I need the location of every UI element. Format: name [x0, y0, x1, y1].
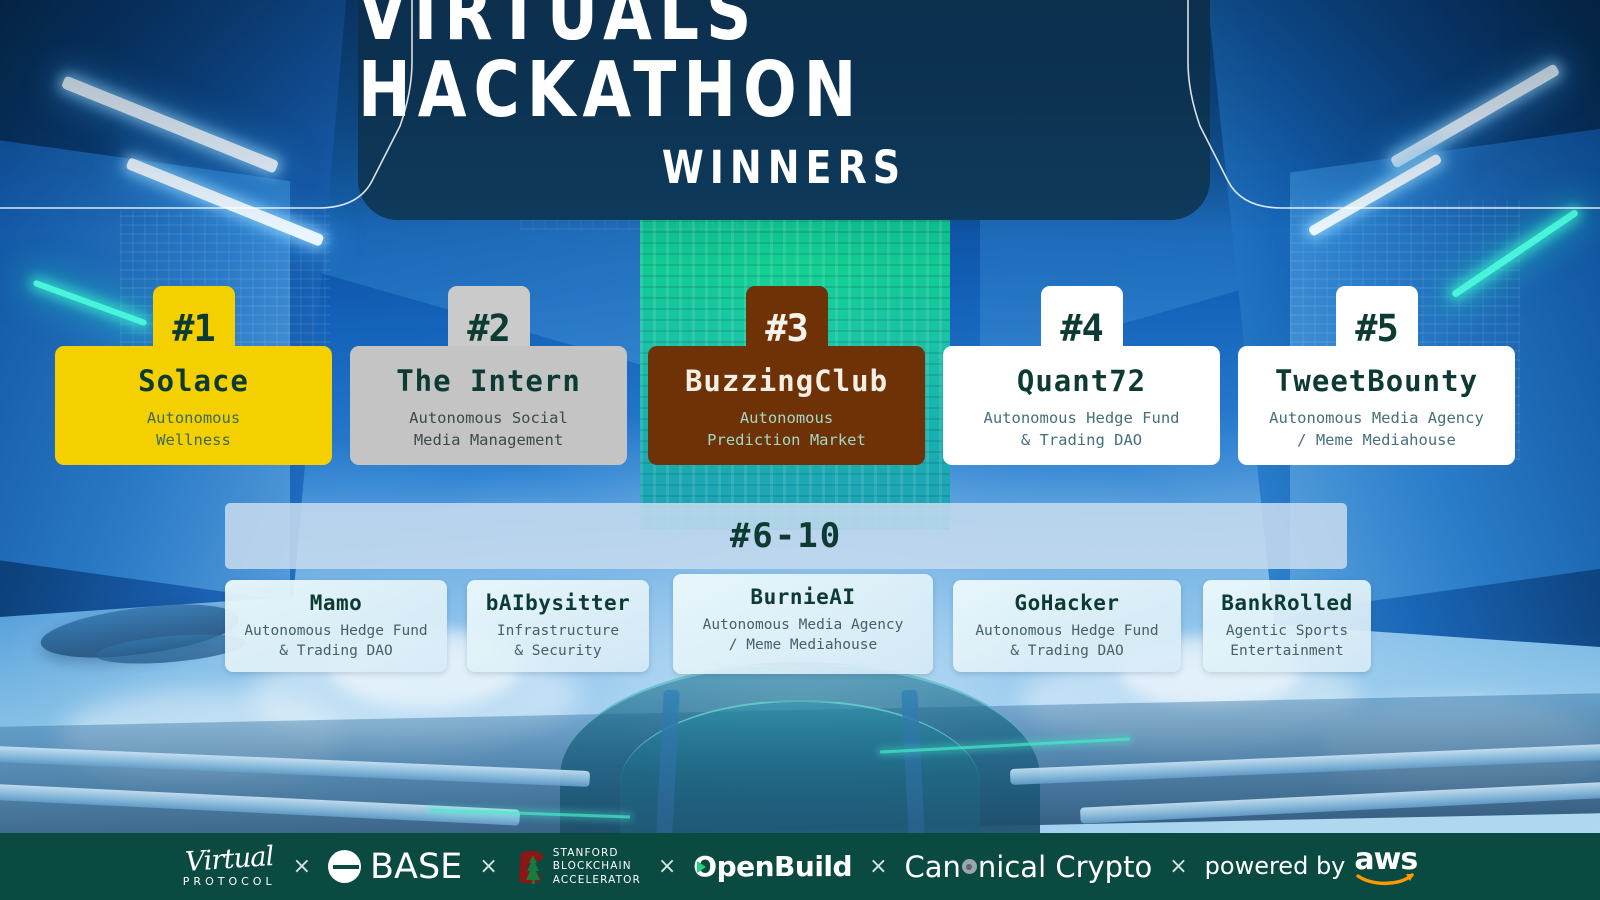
winner-desc: Autonomous Media Agency / Meme Mediahous… — [1248, 407, 1505, 451]
runner-up-name: Mamo — [233, 591, 439, 615]
runner-up-desc-line2: & Trading DAO — [233, 641, 439, 661]
stanford-line-3: ACCELERATOR — [553, 874, 641, 886]
runner-up-name: BurnieAI — [681, 585, 925, 609]
runner-up-card-1[interactable]: Mamo Autonomous Hedge Fund & Trading DAO — [225, 580, 447, 672]
winner-desc-line2: Wellness — [65, 429, 322, 451]
stanford-tree-icon — [515, 849, 547, 885]
winner-name: Solace — [65, 366, 322, 398]
sponsor-bar: Virtual PROTOCOL × BASE × STANFORD BLOCK… — [0, 833, 1600, 900]
openbuild-o-letter: O — [693, 850, 716, 883]
runner-up-desc-line1: Infrastructure — [475, 621, 641, 641]
page-subtitle: WINNERS — [662, 141, 906, 194]
separator-x-icon: × — [462, 854, 514, 879]
virtuals-wordmark: Virtual — [184, 843, 274, 876]
podium-winners: #1 Solace Autonomous Wellness #2 The Int… — [0, 286, 1600, 491]
runner-up-desc-line2: & Trading DAO — [961, 641, 1173, 661]
runner-up-name: bAIbysitter — [475, 591, 641, 615]
winner-desc: Autonomous Social Media Management — [360, 407, 617, 451]
rank-label: #2 — [467, 307, 510, 350]
rank-label: #1 — [172, 307, 215, 350]
winner-desc-line1: Autonomous Media Agency — [1248, 407, 1505, 429]
winner-desc-line1: Autonomous Hedge Fund — [953, 407, 1210, 429]
openbuild-rest: penBuild — [717, 850, 852, 883]
runner-up-desc-line2: Entertainment — [1211, 641, 1363, 661]
runner-up-desc: Autonomous Media Agency / Meme Mediahous… — [681, 615, 925, 656]
runner-up-card-4[interactable]: GoHacker Autonomous Hedge Fund & Trading… — [953, 580, 1181, 672]
base-logo-icon — [328, 850, 361, 883]
aws-logo: aws — [1354, 847, 1417, 886]
runner-up-desc: Infrastructure & Security — [475, 621, 641, 662]
winner-body-3: BuzzingClub Autonomous Prediction Market — [648, 346, 925, 465]
winner-desc: Autonomous Wellness — [65, 407, 322, 451]
winner-desc-line1: Autonomous Social — [360, 407, 617, 429]
sponsor-canonical-crypto[interactable]: Cannical Crypto — [905, 850, 1153, 884]
page-title: VIRTUALS HACKATHON — [358, 0, 1210, 128]
winner-desc-line1: Autonomous — [658, 407, 915, 429]
winner-desc-line2: Prediction Market — [658, 429, 915, 451]
winner-name: Quant72 — [953, 366, 1210, 398]
winner-desc: Autonomous Prediction Market — [658, 407, 915, 451]
runner-up-desc: Autonomous Hedge Fund & Trading DAO — [961, 621, 1173, 662]
separator-x-icon: × — [641, 854, 693, 879]
base-wordmark: BASE — [370, 847, 462, 887]
poster-canvas: VIRTUALS HACKATHON WINNERS #1 Solace Aut… — [0, 0, 1600, 900]
runners-up-banner: #6-10 — [225, 503, 1347, 569]
runner-up-desc-line2: / Meme Mediahouse — [681, 635, 925, 655]
winner-body-2: The Intern Autonomous Social Media Manag… — [350, 346, 627, 465]
openbuild-wordmark: O penBuild — [693, 850, 852, 883]
winner-name: TweetBounty — [1248, 366, 1505, 398]
sponsor-virtuals-protocol[interactable]: Virtual PROTOCOL — [183, 846, 276, 887]
rank-label: #4 — [1060, 307, 1103, 350]
winner-desc-line2: & Trading DAO — [953, 429, 1210, 451]
stanford-line-2: BLOCKCHAIN — [553, 860, 641, 872]
stanford-line-1: STANFORD — [553, 847, 641, 859]
aws-smile-icon — [1356, 872, 1416, 886]
aws-powered-by-label: powered by — [1205, 852, 1346, 880]
canonical-suffix: nical Crypto — [978, 850, 1152, 884]
header-panel: VIRTUALS HACKATHON WINNERS — [358, 0, 1210, 220]
winner-body-5: TweetBounty Autonomous Media Agency / Me… — [1238, 346, 1515, 465]
winner-name: The Intern — [360, 366, 617, 398]
sponsor-base[interactable]: BASE — [328, 847, 462, 887]
canonical-prefix: Can — [905, 850, 961, 884]
sponsor-openbuild[interactable]: O penBuild — [693, 850, 852, 883]
winner-desc-line2: Media Management — [360, 429, 617, 451]
virtuals-subtitle: PROTOCOL — [183, 876, 276, 887]
separator-x-icon: × — [276, 854, 328, 879]
separator-x-icon: × — [852, 854, 904, 879]
runners-up-label: #6-10 — [730, 516, 842, 556]
rank-label: #5 — [1355, 307, 1398, 350]
aws-wordmark: aws — [1354, 847, 1417, 873]
runner-up-desc-line1: Autonomous Hedge Fund — [233, 621, 439, 641]
winner-desc: Autonomous Hedge Fund & Trading DAO — [953, 407, 1210, 451]
runner-up-card-3[interactable]: BurnieAI Autonomous Media Agency / Meme … — [673, 574, 933, 674]
openbuild-arrow-icon — [697, 861, 706, 873]
stanford-text: STANFORD BLOCKCHAIN ACCELERATOR — [553, 847, 641, 886]
winner-desc-line2: / Meme Mediahouse — [1248, 429, 1505, 451]
winner-body-4: Quant72 Autonomous Hedge Fund & Trading … — [943, 346, 1220, 465]
winner-desc-line1: Autonomous — [65, 407, 322, 429]
runner-up-card-5[interactable]: BankRolled Agentic Sports Entertainment — [1203, 580, 1371, 672]
runner-up-desc-line1: Agentic Sports — [1211, 621, 1363, 641]
runners-up-list: Mamo Autonomous Hedge Fund & Trading DAO… — [0, 576, 1600, 681]
winner-body-1: Solace Autonomous Wellness — [55, 346, 332, 465]
runner-up-desc: Autonomous Hedge Fund & Trading DAO — [233, 621, 439, 662]
runner-up-name: GoHacker — [961, 591, 1173, 615]
canonical-dot-icon — [962, 859, 977, 874]
rank-label: #3 — [765, 307, 808, 350]
runner-up-desc-line2: & Security — [475, 641, 641, 661]
runner-up-desc: Agentic Sports Entertainment — [1211, 621, 1363, 662]
runner-up-card-2[interactable]: bAIbysitter Infrastructure & Security — [467, 580, 649, 672]
winner-name: BuzzingClub — [658, 366, 915, 398]
runner-up-name: BankRolled — [1211, 591, 1363, 615]
runner-up-desc-line1: Autonomous Hedge Fund — [961, 621, 1173, 641]
sponsor-stanford-blockchain-accelerator[interactable]: STANFORD BLOCKCHAIN ACCELERATOR — [515, 847, 641, 886]
separator-x-icon: × — [1152, 854, 1204, 879]
sponsor-aws[interactable]: powered by aws — [1205, 847, 1418, 886]
runner-up-desc-line1: Autonomous Media Agency — [681, 615, 925, 635]
